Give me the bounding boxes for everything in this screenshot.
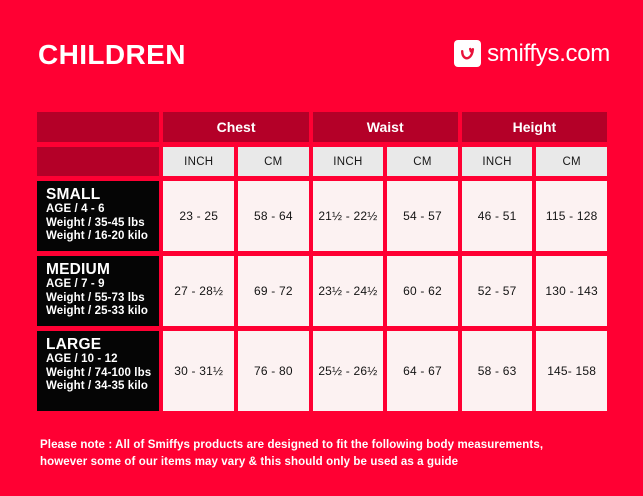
size-label-medium: MEDIUM AGE / 7 - 9 Weight / 55-73 lbs We… [37,256,159,326]
cell-waist-cm: 54 - 57 [387,181,458,251]
smile-logo-icon [454,40,481,67]
cell-waist-cm: 60 - 62 [387,256,458,326]
cell-waist-cm: 64 - 67 [387,331,458,411]
size-weight-lbs: Weight / 35-45 lbs [46,217,159,231]
unit-header-waist-inch: INCH [313,147,384,176]
cell-chest-inch: 27 - 28½ [163,256,234,326]
cell-height-inch: 52 - 57 [462,256,533,326]
unit-header-height-inch: INCH [462,147,533,176]
cell-height-inch: 58 - 63 [462,331,533,411]
size-age: AGE / 7 - 9 [46,278,159,292]
cell-chest-cm: 76 - 80 [238,331,309,411]
size-weight-kilo: Weight / 25-33 kilo [46,305,159,319]
page-title: CHILDREN [38,41,186,69]
table-row: MEDIUM AGE / 7 - 9 Weight / 55-73 lbs We… [37,256,607,326]
cell-height-cm: 115 - 128 [536,181,607,251]
cell-waist-inch: 25½ - 26½ [313,331,384,411]
table-corner-cell-2 [37,147,159,176]
unit-header-chest-inch: INCH [163,147,234,176]
size-weight-lbs: Weight / 55-73 lbs [46,292,159,306]
size-name: MEDIUM [46,262,159,278]
brand-name: smiffys.com [487,42,610,66]
table-unit-header-row: INCH CM INCH CM INCH CM [37,147,607,176]
size-chart-table: Chest Waist Height INCH CM INCH CM INCH … [33,107,611,416]
footer-note-line-1: Please note : All of Smiffys products ar… [40,437,610,454]
table-row: SMALL AGE / 4 - 6 Weight / 35-45 lbs Wei… [37,181,607,251]
cell-height-cm: 130 - 143 [536,256,607,326]
cell-waist-inch: 23½ - 24½ [313,256,384,326]
cell-height-cm: 145- 158 [536,331,607,411]
page-header: CHILDREN smiffys.com [0,0,643,103]
size-age: AGE / 10 - 12 [46,353,159,367]
table-group-header-row: Chest Waist Height [37,112,607,142]
size-weight-lbs: Weight / 74-100 lbs [46,367,159,381]
size-label-large: LARGE AGE / 10 - 12 Weight / 74-100 lbs … [37,331,159,411]
size-age: AGE / 4 - 6 [46,203,159,217]
footer-note: Please note : All of Smiffys products ar… [40,437,610,470]
group-header-waist: Waist [313,112,458,142]
size-weight-kilo: Weight / 34-35 kilo [46,380,159,394]
cell-chest-inch: 30 - 31½ [163,331,234,411]
unit-header-chest-cm: CM [238,147,309,176]
cell-height-inch: 46 - 51 [462,181,533,251]
cell-chest-cm: 69 - 72 [238,256,309,326]
table-corner-cell [37,112,159,142]
size-name: LARGE [46,337,159,353]
size-weight-kilo: Weight / 16-20 kilo [46,230,159,244]
size-name: SMALL [46,187,159,203]
brand-logo: smiffys.com [454,40,610,67]
cell-chest-inch: 23 - 25 [163,181,234,251]
table-row: LARGE AGE / 10 - 12 Weight / 74-100 lbs … [37,331,607,411]
size-label-small: SMALL AGE / 4 - 6 Weight / 35-45 lbs Wei… [37,181,159,251]
unit-header-waist-cm: CM [387,147,458,176]
unit-header-height-cm: CM [536,147,607,176]
footer-note-line-2: however some of our items may vary & thi… [40,454,610,471]
group-header-chest: Chest [163,112,308,142]
group-header-height: Height [462,112,607,142]
cell-waist-inch: 21½ - 22½ [313,181,384,251]
cell-chest-cm: 58 - 64 [238,181,309,251]
